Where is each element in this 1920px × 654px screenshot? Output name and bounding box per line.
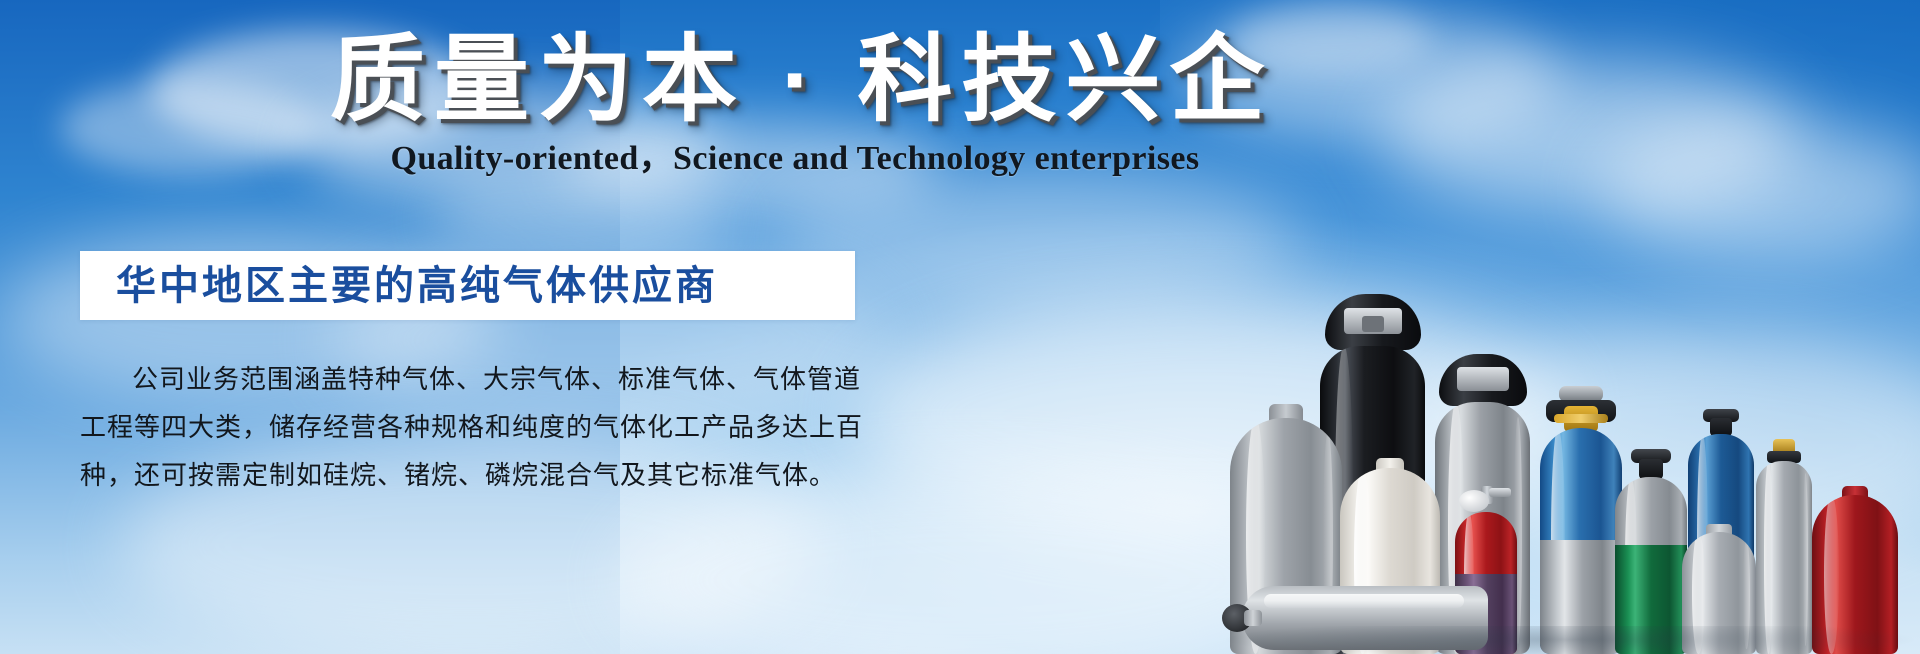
body-line-3: 种，还可按需定制如硅烷、锗烷、磷烷混合气及其它标准气体。 [80, 452, 870, 500]
cloud-shape [60, 80, 320, 175]
headline-chinese: 质量为本 · 科技兴企 [330, 24, 1260, 136]
cylinder-blue-valve [1540, 386, 1622, 654]
subheadline-english: Quality-oriented，Science and Technology … [330, 138, 1260, 180]
promo-banner: 质量为本 · 科技兴企 Quality-oriented，Science and… [0, 0, 1920, 654]
cylinder-green-small [1615, 449, 1687, 654]
cloud-shape [430, 180, 730, 260]
body-line-1: 公司业务范围涵盖特种气体、大宗气体、标准气体、气体管道 [80, 356, 870, 404]
cylinder-ground-shadow [1220, 626, 1920, 654]
cylinder-silver-slim [1756, 439, 1812, 654]
callout-text: 华中地区主要的高纯气体供应商 [80, 264, 718, 308]
callout-box: 华中地区主要的高纯气体供应商 [80, 251, 855, 320]
body-line-2: 工程等四大类，储存经营各种规格和纯度的气体化工产品多达上百 [80, 404, 870, 452]
gas-cylinder-group [1220, 234, 1920, 654]
body-paragraph: 公司业务范围涵盖特种气体、大宗气体、标准气体、气体管道 工程等四大类，储存经营各… [80, 356, 870, 500]
